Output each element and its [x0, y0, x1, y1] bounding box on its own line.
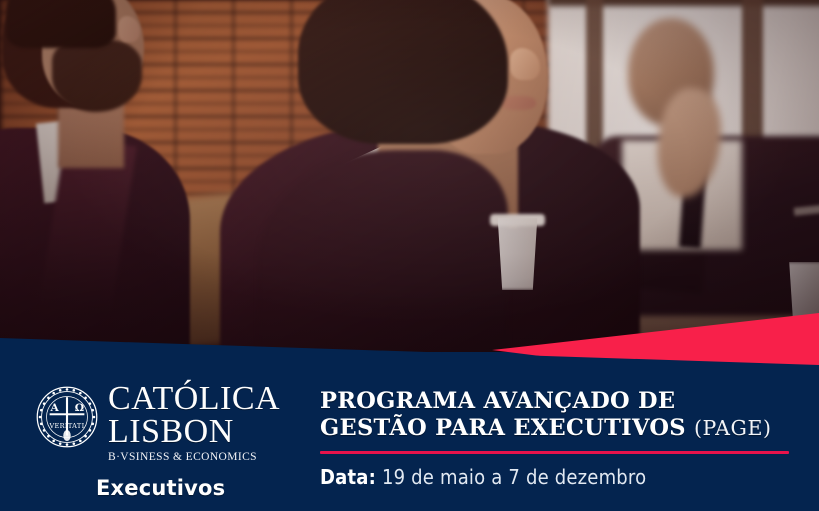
wordmark-line-1: CATÓLICA	[108, 382, 290, 415]
logo-unit-executivos: Executivos	[96, 476, 225, 500]
catolica-lisbon-seal-icon: A Ω VERITATI	[36, 386, 98, 448]
program-info-block: PROGRAMA AVANÇADO DE GESTÃO PARA EXECUTI…	[320, 388, 798, 489]
svg-text:A: A	[50, 402, 60, 414]
person-left-hair	[6, 0, 116, 48]
person-center-hair	[298, 0, 508, 144]
program-date-line: Data: 19 de maio a 7 de dezembro	[320, 465, 798, 489]
date-label: Data:	[320, 465, 376, 489]
program-title: PROGRAMA AVANÇADO DE GESTÃO PARA EXECUTI…	[320, 388, 798, 442]
person-left-beard	[52, 40, 142, 112]
wordmark-line-2: LISBON	[108, 415, 290, 448]
program-acronym: (PAGE)	[694, 416, 772, 440]
coffee-cup	[495, 218, 540, 290]
title-underline-rule	[320, 451, 789, 454]
catolica-lisbon-wordmark: CATÓLICA LISBON B·VSINESS & ECONOMICS	[108, 382, 290, 463]
program-banner: A Ω VERITATI CATÓLICA LISBON B·VSINESS &…	[0, 0, 819, 511]
svg-text:VERITATI: VERITATI	[48, 422, 84, 430]
svg-text:Ω: Ω	[75, 402, 84, 414]
person-center-lips	[500, 96, 536, 110]
date-value: 19 de maio a 7 de dezembro	[382, 465, 646, 489]
wordmark-subtitle: B·VSINESS & ECONOMICS	[108, 451, 290, 463]
hero-photograph	[0, 0, 819, 352]
program-title-line-1: PROGRAMA AVANÇADO DE	[320, 388, 675, 414]
program-title-line-2: GESTÃO PARA EXECUTIVOS	[320, 415, 686, 441]
